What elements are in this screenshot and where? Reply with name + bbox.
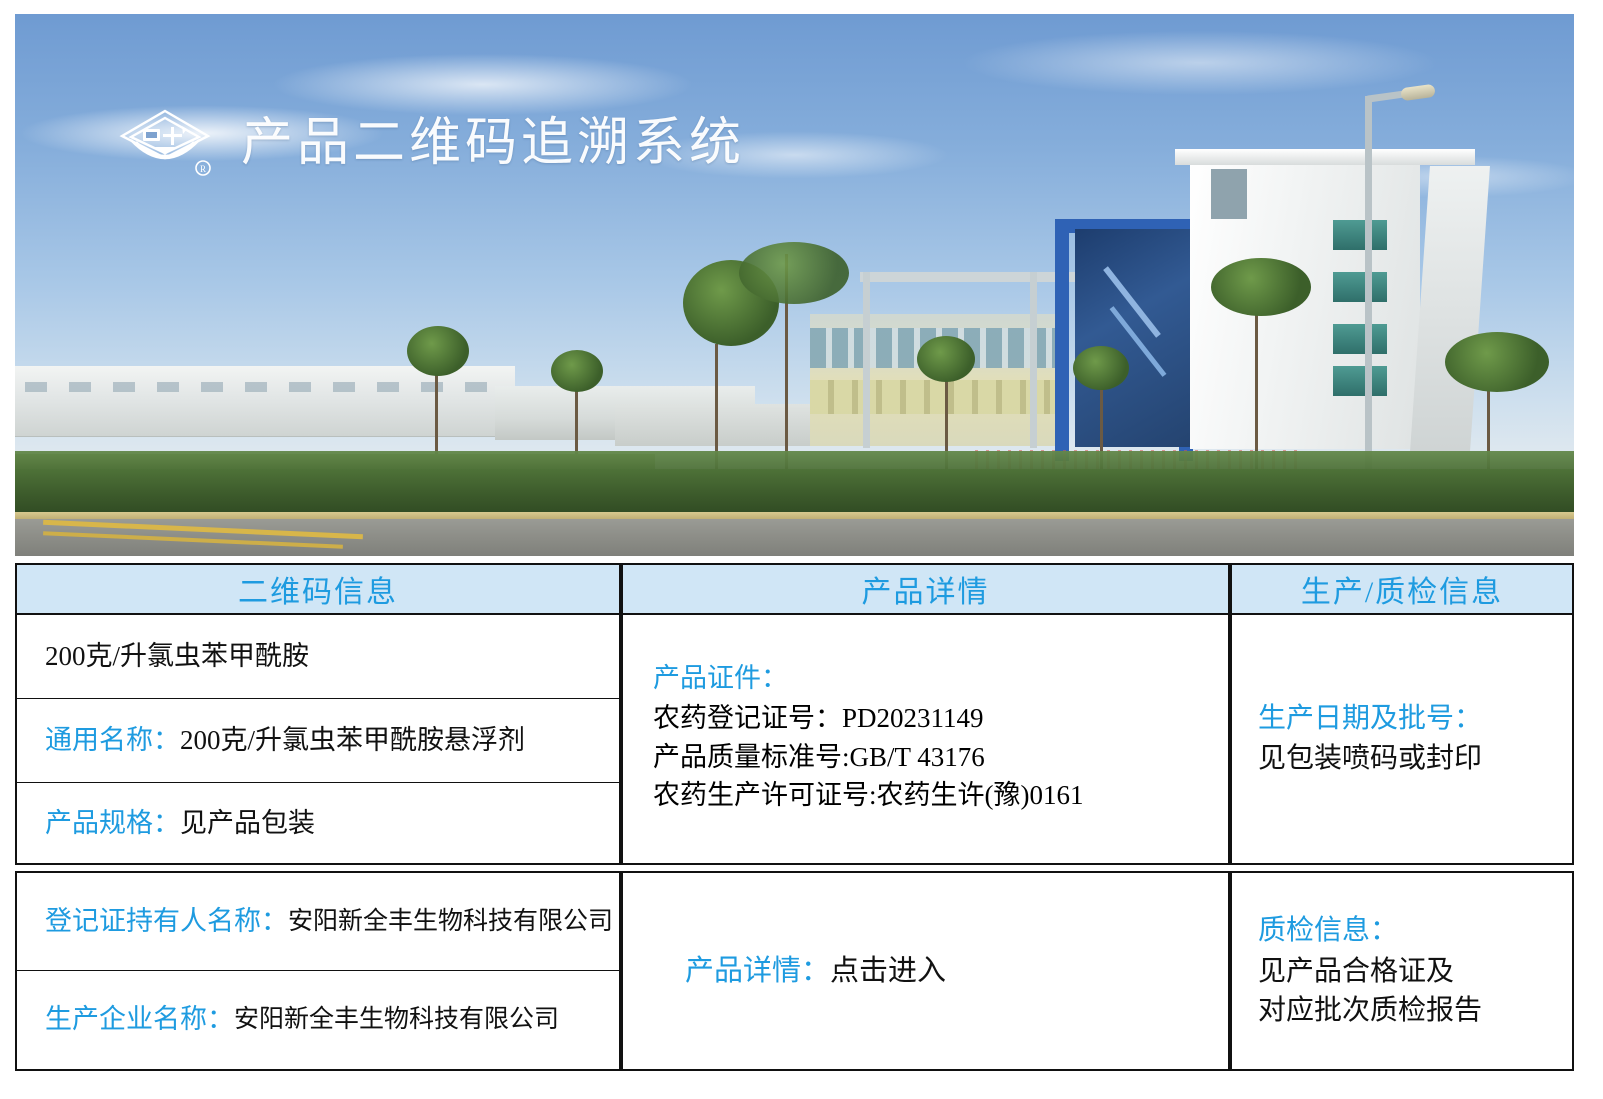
steel-post-left [863, 272, 870, 448]
column-header-qc: 生产/质检信息 [1230, 563, 1574, 615]
column-header-detail: 产品详情 [621, 563, 1230, 615]
traceability-page: R 产品二维码追溯系统 二维码信息 200克/升氯虫苯甲酰胺 通用名称：200克… [0, 0, 1603, 1099]
qr-info-block-top: 200克/升氯虫苯甲酰胺 通用名称：200克/升氯虫苯甲酰胺悬浮剂 产品规格：见… [15, 615, 621, 865]
tree-canopy [1073, 346, 1129, 390]
product-detail-link-cell[interactable]: 产品详情： 点击进入 [621, 871, 1230, 1071]
tree-canopy [739, 242, 849, 304]
row-specification: 产品规格：见产品包装 [17, 783, 619, 865]
certificate-heading: 产品证件： [653, 659, 1228, 697]
qc-info-value-line-1: 见产品合格证及 [1258, 952, 1572, 992]
manufacturer-value: 安阳新全丰生物科技有限公司 [234, 1004, 559, 1035]
tower-roof-slab [1175, 149, 1475, 165]
production-date-label: 生产日期及批号： [1258, 699, 1572, 740]
teal-balcony-3 [1333, 324, 1387, 354]
glass-reflection-1 [1103, 266, 1161, 337]
teal-balcony-2 [1333, 272, 1387, 302]
steel-post-right [1030, 272, 1037, 448]
tree-canopy [1445, 332, 1549, 392]
certificate-cell: 产品证件： 农药登记证号：PD20231149 产品质量标准号:GB/T 431… [621, 615, 1230, 865]
production-license-line: 农药生产许可证号:农药生许(豫)0161 [653, 776, 1228, 814]
production-date-cell: 生产日期及批号： 见包装喷码或封印 [1230, 615, 1574, 865]
common-name-label: 通用名称： [45, 724, 180, 758]
row-common-name: 通用名称：200克/升氯虫苯甲酰胺悬浮剂 [17, 699, 619, 783]
column-qc-info: 生产/质检信息 生产日期及批号： 见包装喷码或封印 质检信息： 见产品合格证及 … [1230, 563, 1574, 1071]
common-name-value: 200克/升氯虫苯甲酰胺悬浮剂 [180, 724, 525, 758]
teal-balcony-4 [1333, 366, 1387, 396]
hedge-row [15, 469, 1574, 517]
quality-standard-line: 产品质量标准号:GB/T 43176 [653, 738, 1228, 776]
row-manufacturer: 生产企业名称：安阳新全丰生物科技有限公司 [17, 971, 619, 1069]
qc-info-cell: 质检信息： 见产品合格证及 对应批次质检报告 [1230, 871, 1574, 1071]
column-header-qr: 二维码信息 [15, 563, 621, 615]
brand-header: R 产品二维码追溯系统 [115, 106, 745, 180]
row-registrant: 登记证持有人名称：安阳新全丰生物科技有限公司 [17, 873, 619, 971]
tree-canopy [1211, 258, 1311, 316]
manufacturer-label: 生产企业名称： [45, 1003, 234, 1037]
row-product-name: 200克/升氯虫苯甲酰胺 [17, 615, 619, 699]
specification-label: 产品规格： [45, 807, 180, 841]
qc-info-label: 质检信息： [1258, 911, 1572, 952]
tower-window-slot [1211, 169, 1247, 219]
qc-info-value-line-2: 对应批次质检报告 [1258, 991, 1572, 1031]
teal-balcony-1 [1333, 220, 1387, 250]
registrant-value: 安阳新全丰生物科技有限公司 [288, 906, 613, 937]
product-detail-enter-link[interactable]: 点击进入 [830, 953, 946, 989]
column-product-detail: 产品详情 产品证件： 农药登记证号：PD20231149 产品质量标准号:GB/… [621, 563, 1230, 1071]
glass-curtain-wall [1075, 229, 1195, 447]
tree-canopy [551, 350, 603, 392]
registered-mark: R [200, 164, 206, 174]
guoguang-diamond-logo: R [115, 106, 215, 180]
column-qr-info: 二维码信息 200克/升氯虫苯甲酰胺 通用名称：200克/升氯虫苯甲酰胺悬浮剂 … [15, 563, 621, 1071]
distant-factory-left [15, 366, 515, 436]
qr-info-block-bottom: 登记证持有人名称：安阳新全丰生物科技有限公司 生产企业名称：安阳新全丰生物科技有… [15, 871, 621, 1071]
registration-number-line: 农药登记证号：PD20231149 [653, 699, 1228, 737]
tree-canopy [917, 336, 975, 382]
road-surface [15, 519, 1574, 556]
page-title: 产品二维码追溯系统 [241, 117, 745, 169]
specification-value: 见产品包装 [180, 807, 315, 841]
tree-canopy [407, 326, 469, 376]
product-info-table: 二维码信息 200克/升氯虫苯甲酰胺 通用名称：200克/升氯虫苯甲酰胺悬浮剂 … [15, 563, 1574, 1071]
product-name-value: 200克/升氯虫苯甲酰胺 [45, 640, 309, 674]
production-date-value: 见包装喷码或封印 [1258, 739, 1572, 779]
product-detail-label: 产品详情： [685, 953, 830, 989]
registrant-label: 登记证持有人名称： [45, 905, 288, 939]
factory-photo: R 产品二维码追溯系统 [15, 14, 1574, 556]
